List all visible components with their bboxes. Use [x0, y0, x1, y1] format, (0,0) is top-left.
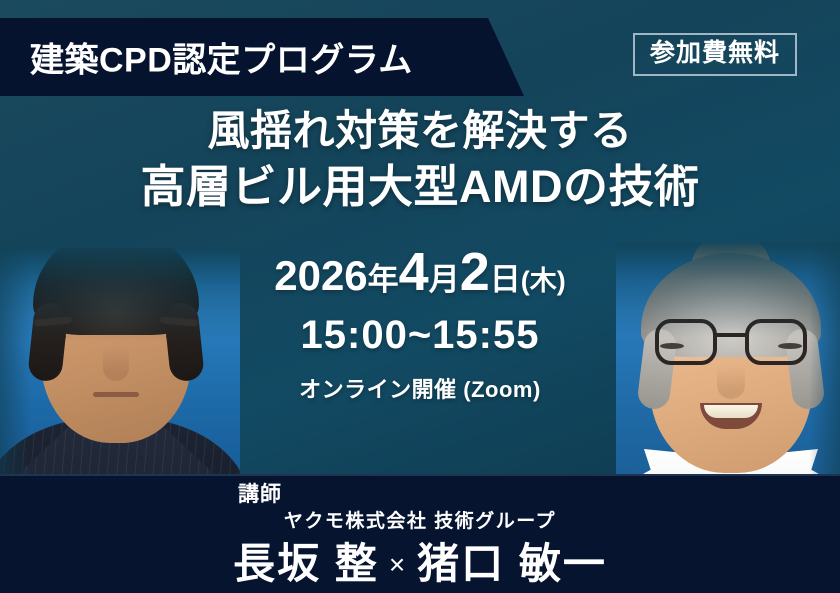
- speaker-label: 講師: [238, 478, 282, 508]
- program-ribbon: 建築CPD認定プログラム: [0, 18, 524, 96]
- seminar-title-line-1: 風揺れ対策を解決する: [0, 104, 840, 158]
- speaker-section: 講師 ヤクモ株式会社 技術グループ 長坂 整×猪口 敏一: [0, 474, 840, 508]
- speaker-name-1: 長坂 整: [233, 540, 379, 587]
- seminar-title-line-2: 高層ビル用大型AMDの技術: [0, 158, 840, 216]
- speaker-names: 長坂 整×猪口 敏一: [0, 530, 840, 591]
- event-date: 2026年4月2日(木): [0, 241, 840, 303]
- speaker-name-2: 猪口 敏一: [417, 540, 607, 587]
- date-year: 2026: [274, 252, 367, 299]
- speaker-header-row: 講師: [0, 474, 840, 508]
- date-day-unit: 日: [490, 262, 521, 297]
- main-content: 風揺れ対策を解決する 高層ビル用大型AMDの技術 2026年4月2日(木) 15…: [0, 104, 840, 404]
- date-month-unit: 月: [429, 262, 460, 297]
- name-separator: ×: [379, 549, 417, 580]
- date-weekday: (木): [521, 266, 566, 296]
- speaker-organization: ヤクモ株式会社 技術グループ: [0, 506, 840, 533]
- date-month: 4: [399, 242, 429, 302]
- program-label: 建築CPD認定プログラム: [30, 33, 413, 82]
- date-day: 2: [460, 242, 490, 302]
- free-admission-badge: 参加費無料: [633, 33, 797, 76]
- date-year-unit: 年: [368, 262, 399, 297]
- event-time: 15:00~15:55: [0, 313, 840, 358]
- event-venue: オンライン開催 (Zoom): [0, 372, 840, 404]
- seminar-banner: 建築CPD認定プログラム 参加費無料 風揺れ対策を解決する 高層ビル用大型AMD…: [0, 0, 840, 593]
